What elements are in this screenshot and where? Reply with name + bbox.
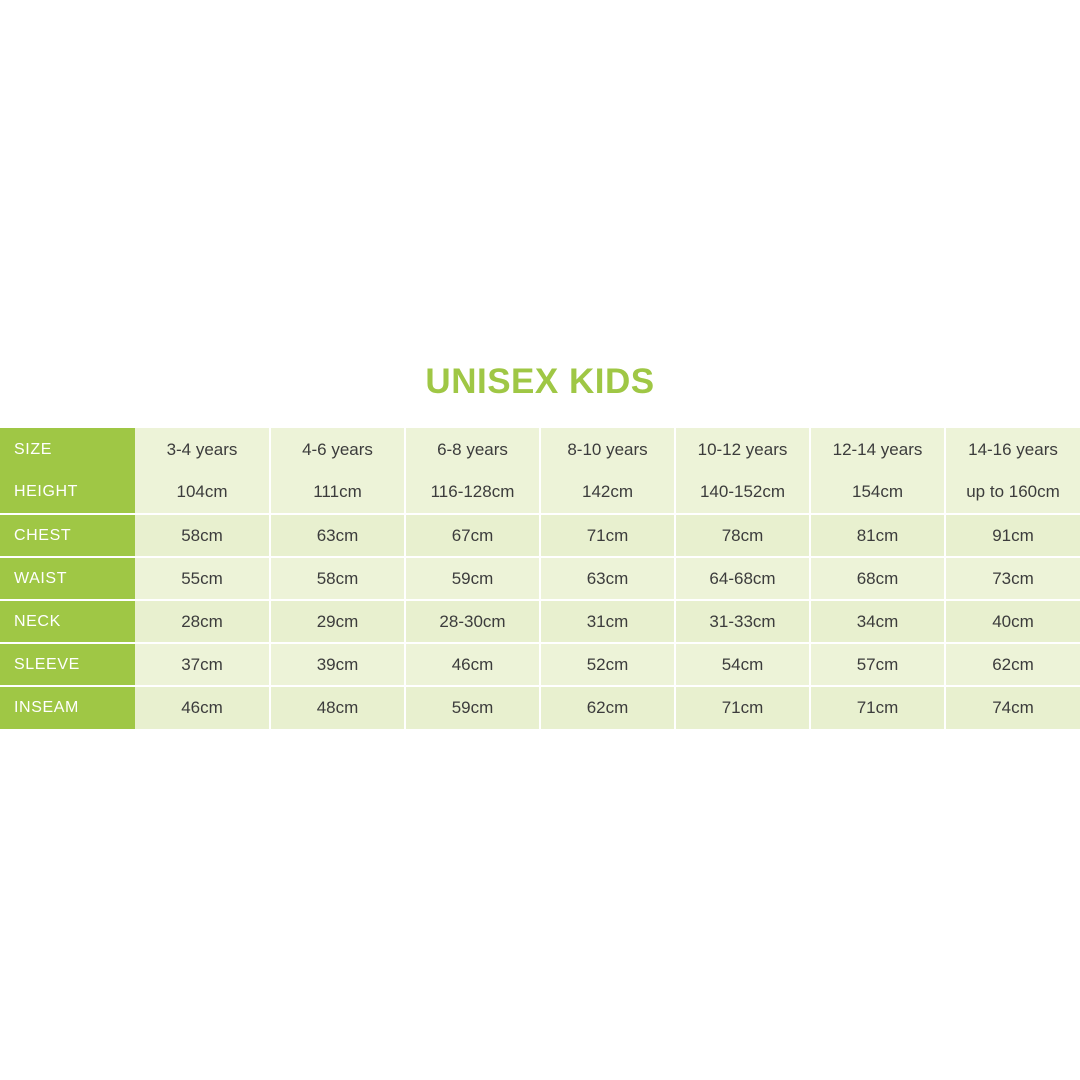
cell-chest-0: 58cm: [135, 514, 270, 557]
row-label-neck: NECK: [0, 600, 135, 643]
cell-neck-1: 29cm: [270, 600, 405, 643]
cell-height-0: 104cm: [135, 471, 270, 514]
cell-sleeve-3: 52cm: [540, 643, 675, 686]
cell-waist-6: 73cm: [945, 557, 1080, 600]
cell-neck-2: 28-30cm: [405, 600, 540, 643]
cell-neck-6: 40cm: [945, 600, 1080, 643]
cell-height-1: 111cm: [270, 471, 405, 514]
cell-chest-6: 91cm: [945, 514, 1080, 557]
column-header-3: 8-10 years: [540, 428, 675, 471]
cell-height-6: up to 160cm: [945, 471, 1080, 514]
row-label-sleeve: SLEEVE: [0, 643, 135, 686]
table-header-row: SIZE 3-4 years 4-6 years 6-8 years 8-10 …: [0, 428, 1080, 471]
page-title: UNISEX KIDS: [0, 360, 1080, 404]
column-header-2: 6-8 years: [405, 428, 540, 471]
cell-neck-5: 34cm: [810, 600, 945, 643]
column-header-4: 10-12 years: [675, 428, 810, 471]
row-label-waist: WAIST: [0, 557, 135, 600]
table-body: HEIGHT 104cm 111cm 116-128cm 142cm 140-1…: [0, 471, 1080, 729]
cell-chest-5: 81cm: [810, 514, 945, 557]
table-row: SLEEVE 37cm 39cm 46cm 52cm 54cm 57cm 62c…: [0, 643, 1080, 686]
cell-neck-0: 28cm: [135, 600, 270, 643]
cell-waist-2: 59cm: [405, 557, 540, 600]
cell-height-5: 154cm: [810, 471, 945, 514]
column-header-1: 4-6 years: [270, 428, 405, 471]
header-corner-size: SIZE: [0, 428, 135, 471]
table-row: NECK 28cm 29cm 28-30cm 31cm 31-33cm 34cm…: [0, 600, 1080, 643]
cell-inseam-0: 46cm: [135, 686, 270, 729]
cell-sleeve-1: 39cm: [270, 643, 405, 686]
table-header: SIZE 3-4 years 4-6 years 6-8 years 8-10 …: [0, 428, 1080, 471]
cell-waist-5: 68cm: [810, 557, 945, 600]
cell-chest-4: 78cm: [675, 514, 810, 557]
cell-sleeve-4: 54cm: [675, 643, 810, 686]
cell-sleeve-2: 46cm: [405, 643, 540, 686]
cell-height-4: 140-152cm: [675, 471, 810, 514]
cell-neck-4: 31-33cm: [675, 600, 810, 643]
cell-sleeve-6: 62cm: [945, 643, 1080, 686]
table-row: HEIGHT 104cm 111cm 116-128cm 142cm 140-1…: [0, 471, 1080, 514]
cell-neck-3: 31cm: [540, 600, 675, 643]
cell-height-3: 142cm: [540, 471, 675, 514]
row-label-chest: CHEST: [0, 514, 135, 557]
row-label-height: HEIGHT: [0, 471, 135, 514]
cell-waist-3: 63cm: [540, 557, 675, 600]
cell-inseam-4: 71cm: [675, 686, 810, 729]
cell-inseam-2: 59cm: [405, 686, 540, 729]
cell-chest-2: 67cm: [405, 514, 540, 557]
cell-waist-1: 58cm: [270, 557, 405, 600]
table-row: WAIST 55cm 58cm 59cm 63cm 64-68cm 68cm 7…: [0, 557, 1080, 600]
size-chart-table: SIZE 3-4 years 4-6 years 6-8 years 8-10 …: [0, 428, 1080, 729]
cell-chest-3: 71cm: [540, 514, 675, 557]
column-header-5: 12-14 years: [810, 428, 945, 471]
cell-waist-0: 55cm: [135, 557, 270, 600]
cell-inseam-6: 74cm: [945, 686, 1080, 729]
cell-sleeve-0: 37cm: [135, 643, 270, 686]
table-row: CHEST 58cm 63cm 67cm 71cm 78cm 81cm 91cm: [0, 514, 1080, 557]
row-label-inseam: INSEAM: [0, 686, 135, 729]
cell-inseam-3: 62cm: [540, 686, 675, 729]
size-chart-container: UNISEX KIDS SIZE 3-4 years 4-6 years 6-8…: [0, 360, 1080, 729]
cell-sleeve-5: 57cm: [810, 643, 945, 686]
cell-inseam-1: 48cm: [270, 686, 405, 729]
cell-chest-1: 63cm: [270, 514, 405, 557]
column-header-6: 14-16 years: [945, 428, 1080, 471]
cell-height-2: 116-128cm: [405, 471, 540, 514]
size-chart-page: UNISEX KIDS SIZE 3-4 years 4-6 years 6-8…: [0, 0, 1080, 1080]
cell-waist-4: 64-68cm: [675, 557, 810, 600]
column-header-0: 3-4 years: [135, 428, 270, 471]
table-row: INSEAM 46cm 48cm 59cm 62cm 71cm 71cm 74c…: [0, 686, 1080, 729]
cell-inseam-5: 71cm: [810, 686, 945, 729]
